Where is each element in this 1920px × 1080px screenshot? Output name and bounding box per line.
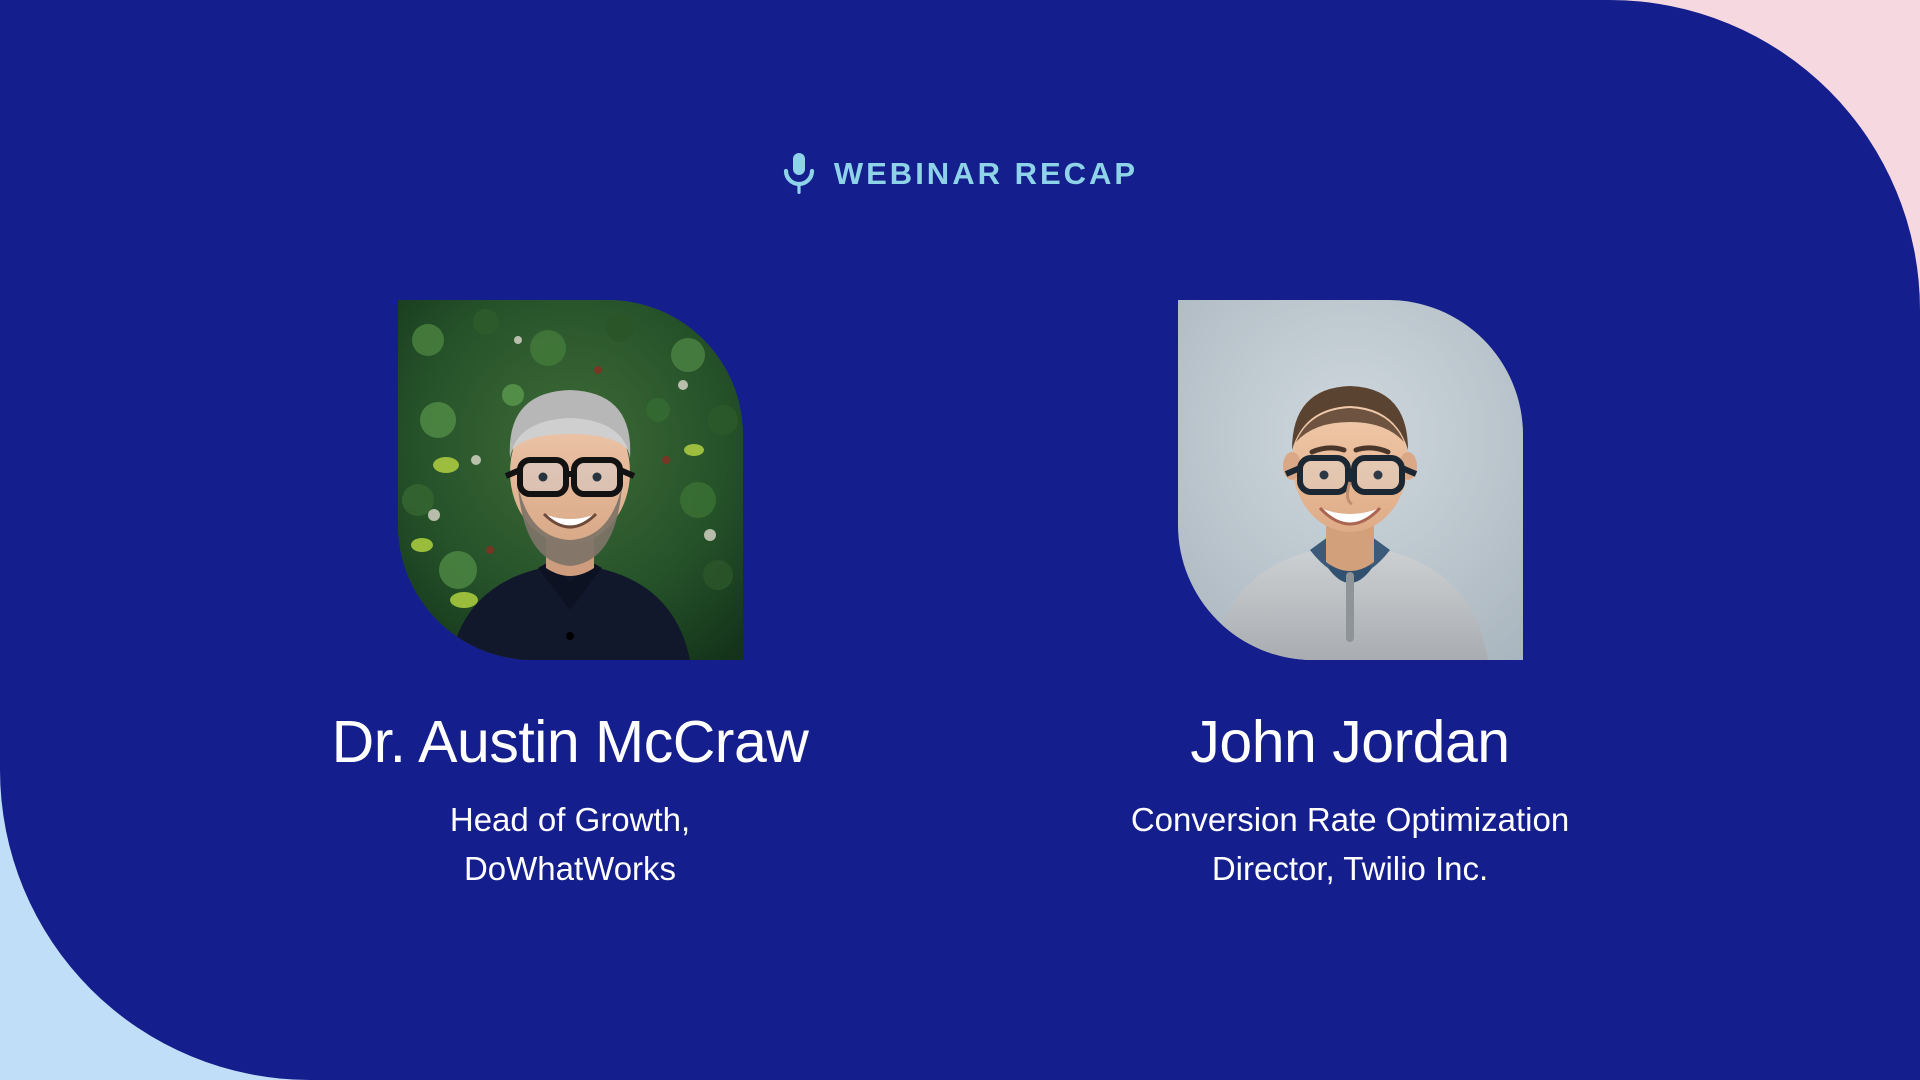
microphone-icon	[782, 152, 816, 196]
eyebrow-label: WEBINAR RECAP	[834, 156, 1138, 192]
speaker-name: Dr. Austin McCraw	[332, 712, 809, 774]
speaker-list: Dr. Austin McCraw Head of Growth, DoWhat…	[0, 300, 1920, 894]
speaker-role: Head of Growth, DoWhatWorks	[450, 796, 690, 894]
speaker-photo	[398, 300, 743, 660]
main-panel: WEBINAR RECAP	[0, 0, 1920, 1080]
header-eyebrow: WEBINAR RECAP	[0, 152, 1920, 196]
speaker-card: Dr. Austin McCraw Head of Growth, DoWhat…	[350, 300, 790, 894]
speaker-photo	[1178, 300, 1523, 660]
speaker-name: John Jordan	[1190, 712, 1509, 774]
speaker-card: John Jordan Conversion Rate Optimization…	[1130, 300, 1570, 894]
speaker-role: Conversion Rate Optimization Director, T…	[1131, 796, 1569, 894]
webinar-recap-graphic: WEBINAR RECAP	[0, 0, 1920, 1080]
